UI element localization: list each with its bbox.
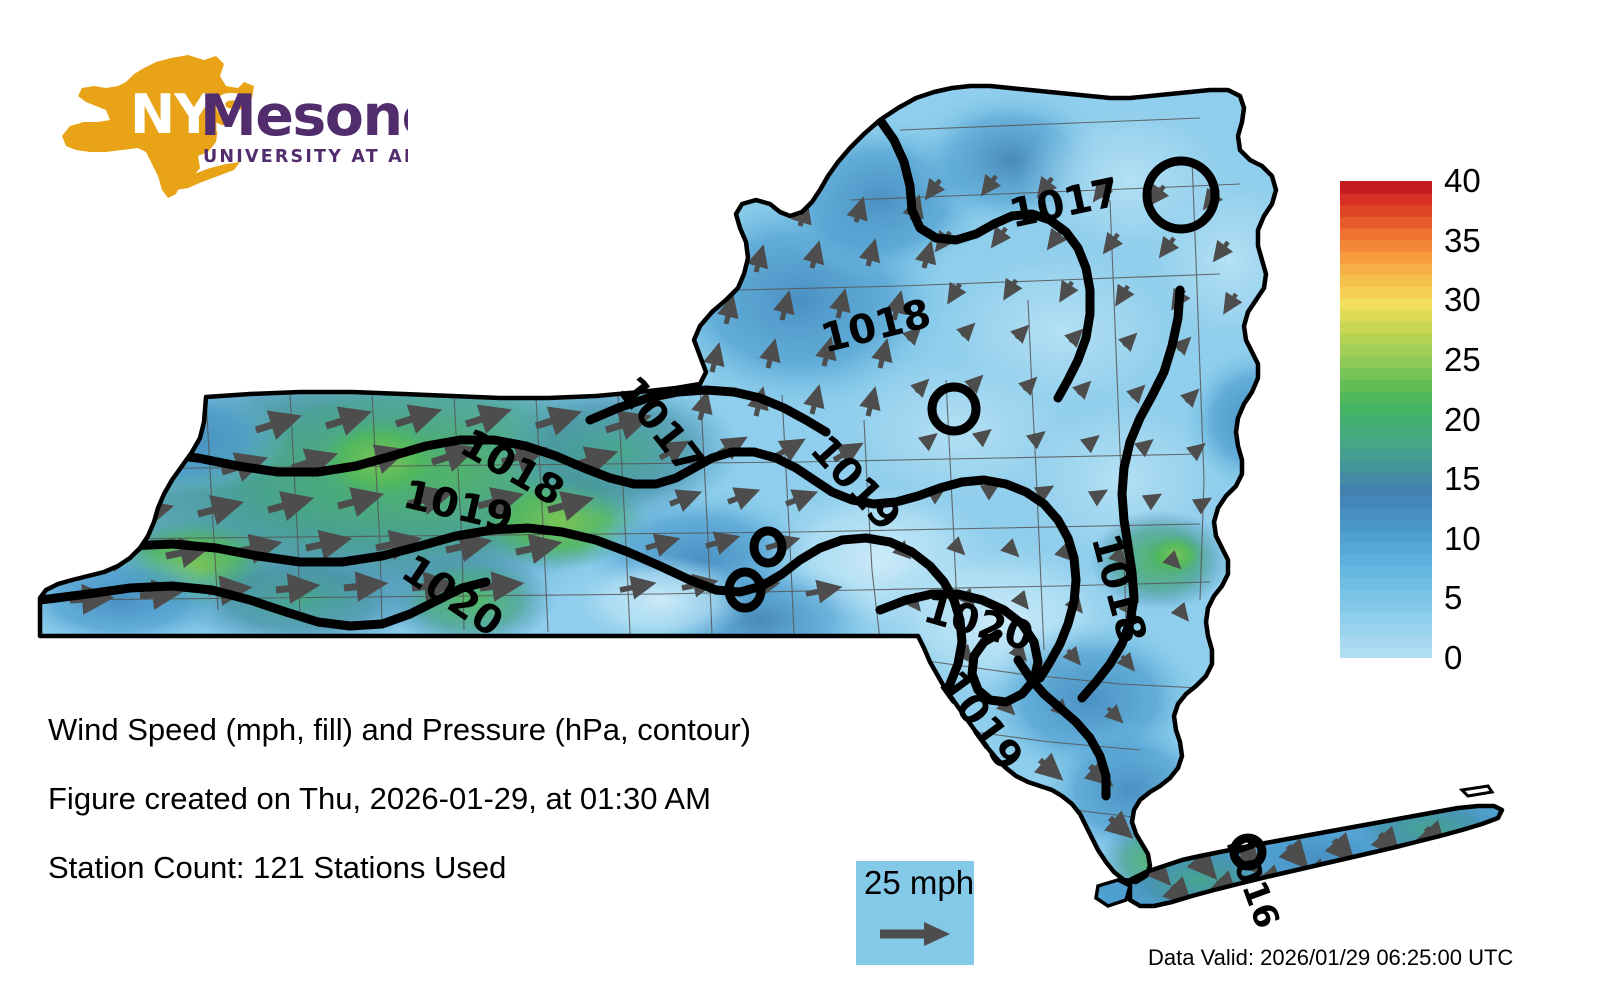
colorbar-tick-labels: 4035302520151050 [1444, 181, 1564, 658]
wind-speed-colorbar [1340, 181, 1432, 658]
station-count: Station Count: 121 Stations Used [48, 853, 948, 883]
small-island-outline [1462, 786, 1492, 796]
reference-vector-label: 25 mph [864, 863, 974, 903]
colorbar-tick-0: 0 [1444, 641, 1462, 674]
staten-island-outline [1096, 880, 1130, 906]
creation-timestamp: Figure created on Thu, 2026-01-29, at 01… [48, 784, 948, 814]
reference-vector-legend: 25 mph [856, 861, 974, 965]
colorbar-tick-30: 30 [1444, 283, 1481, 316]
colorbar-tick-20: 20 [1444, 403, 1481, 436]
caption-block: Wind Speed (mph, fill) and Pressure (hPa… [48, 715, 948, 922]
colorbar-tick-40: 40 [1444, 164, 1481, 197]
plot-title: Wind Speed (mph, fill) and Pressure (hPa… [48, 715, 948, 745]
reference-vector-arrow-icon [878, 917, 954, 951]
colorbar-tick-10: 10 [1444, 522, 1481, 555]
data-valid-timestamp: Data Valid: 2026/01/29 06:25:00 UTC [1148, 946, 1513, 970]
colorbar-tick-35: 35 [1444, 224, 1481, 257]
colorbar-tick-5: 5 [1444, 581, 1462, 614]
colorbar-tick-15: 15 [1444, 462, 1481, 495]
colorbar-tick-25: 25 [1444, 343, 1481, 376]
long-island-fill-layer [1100, 790, 1550, 930]
